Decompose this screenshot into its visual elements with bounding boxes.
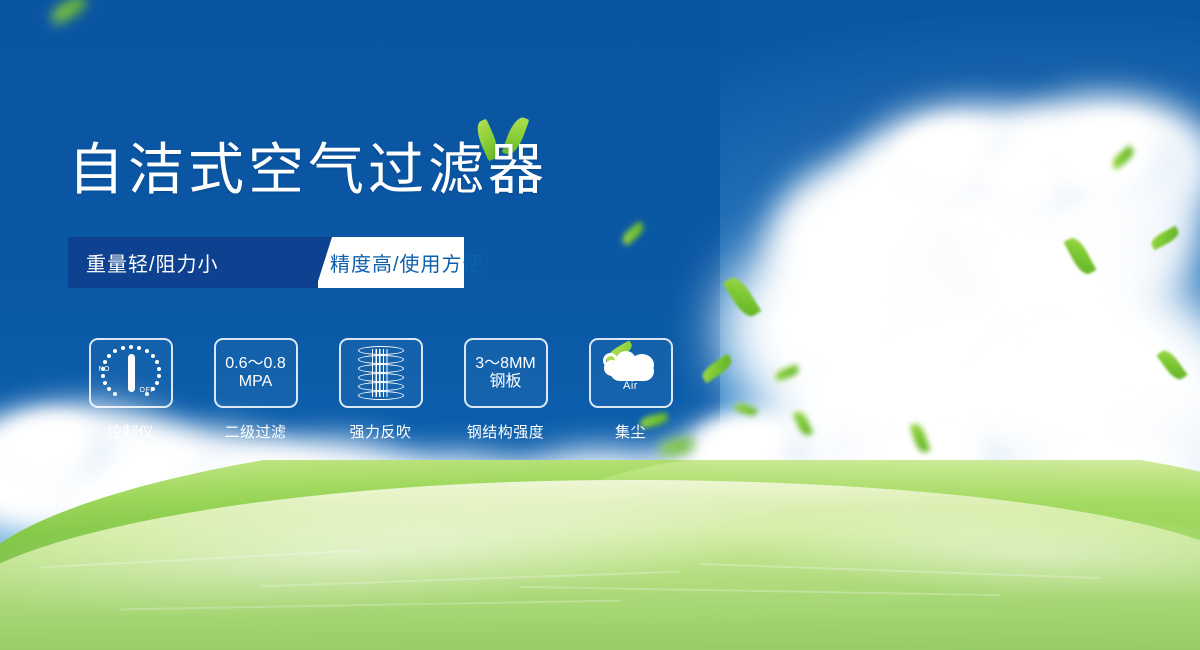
feature-item-steel[interactable]: 3～8MM 钢板 钢结构强度 — [443, 338, 568, 442]
dial-label-on: NO — [99, 366, 111, 373]
feature-box-dust: Air — [589, 338, 673, 408]
feature-item-filtration[interactable]: 0.6～0.8 MPA 二级过滤 — [193, 338, 318, 442]
steel-value-line2: 钢板 — [489, 372, 521, 391]
control-dial-icon: NO OFF — [97, 343, 165, 403]
subtitle-bar: 重量轻/阻力小 精度高/使用方便 — [68, 237, 464, 288]
subtitle-right-panel: 精度高/使用方便 — [318, 237, 464, 288]
pressure-value-line2: MPA — [239, 372, 272, 391]
subtitle-left-panel: 重量轻/阻力小 — [68, 237, 318, 288]
feature-label-blowback: 强力反吹 — [318, 421, 443, 442]
pressure-value-line1: 0.6～0.8 — [225, 355, 286, 372]
product-hero-banner: 自洁式空气过滤器 重量轻/阻力小 精度高/使用方便 — [0, 0, 1200, 650]
feature-label-filtration: 二级过滤 — [193, 421, 318, 442]
subtitle-left-text: 重量轻/阻力小 — [68, 248, 219, 277]
page-title: 自洁式空气过滤器 — [68, 142, 548, 198]
filter-cartridge-icon — [358, 346, 404, 400]
feature-box-control: NO OFF — [89, 338, 173, 408]
feature-label-steel: 钢结构强度 — [443, 421, 568, 442]
feature-box-steel: 3～8MM 钢板 — [464, 338, 548, 408]
feature-icon-row: NO OFF 控制仪 0.6～0.8 MPA 二级过滤 — [68, 338, 693, 442]
subtitle-right-text: 精度高/使用方便 — [318, 248, 484, 277]
feature-label-dust: 集尘 — [568, 421, 693, 442]
feature-item-dust[interactable]: Air 集尘 — [568, 338, 693, 442]
steel-value-line1: 3～8MM — [475, 355, 535, 372]
feature-item-control[interactable]: NO OFF 控制仪 — [68, 338, 193, 442]
dial-pointer — [128, 354, 135, 392]
air-icon-text: Air — [602, 380, 660, 392]
feature-box-filtration: 0.6～0.8 MPA — [214, 338, 298, 408]
feature-label-control: 控制仪 — [68, 421, 193, 442]
feature-box-blowback — [339, 338, 423, 408]
feature-item-blowback[interactable]: 强力反吹 — [318, 338, 443, 442]
dial-label-off: OFF — [140, 387, 156, 394]
air-cloud-icon: Air — [602, 347, 660, 399]
banner-content: 自洁式空气过滤器 重量轻/阻力小 精度高/使用方便 — [0, 0, 1200, 650]
